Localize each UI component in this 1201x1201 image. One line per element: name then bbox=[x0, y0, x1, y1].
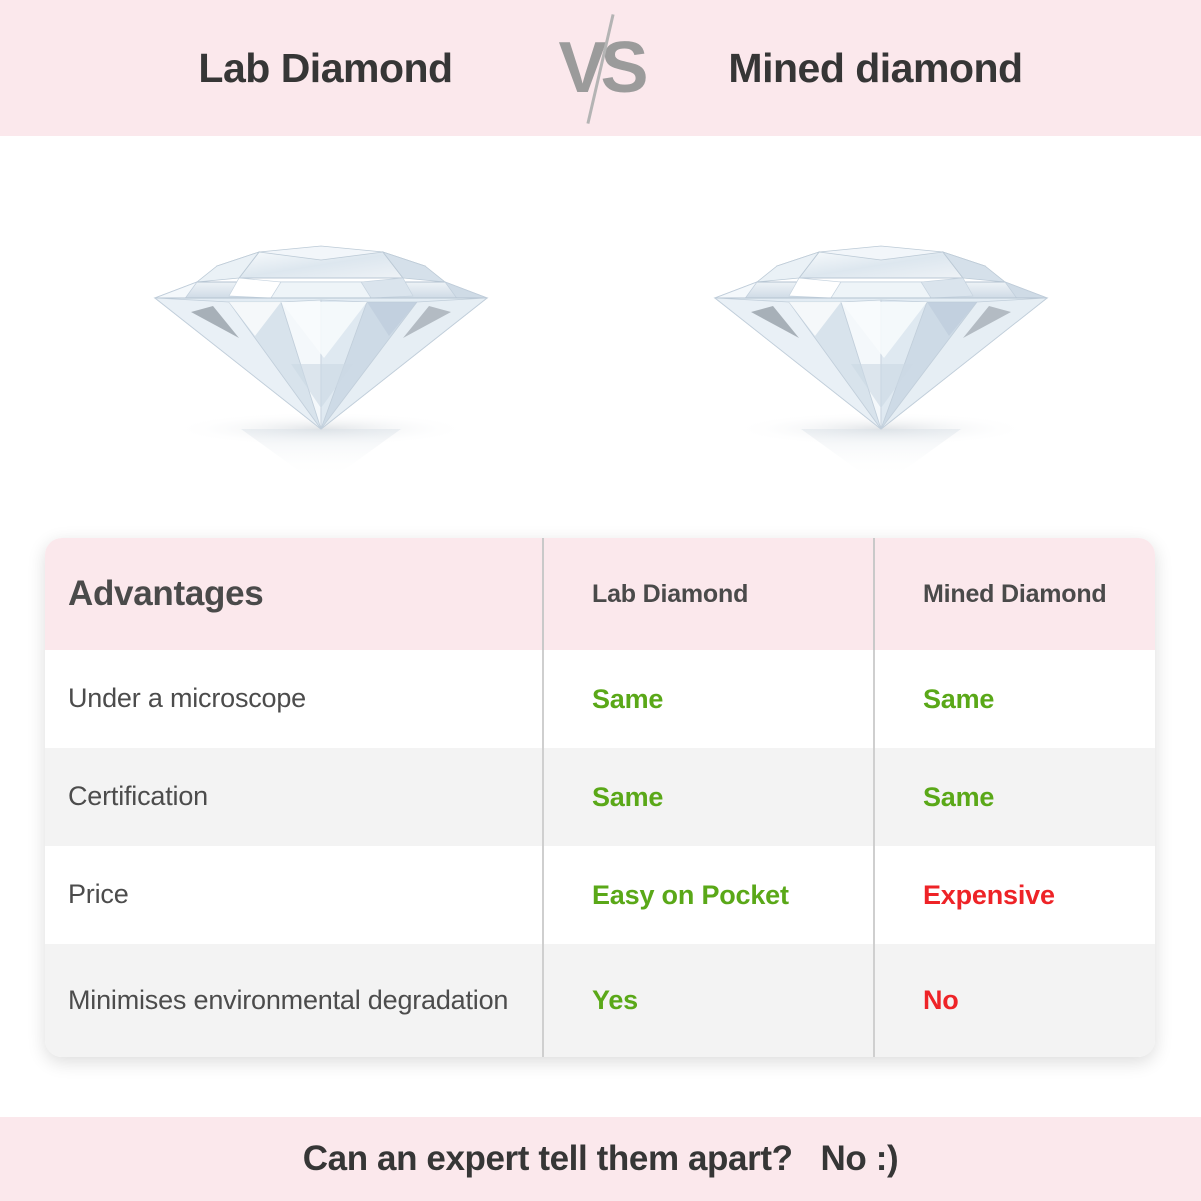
row-mined-value-cell: No bbox=[873, 944, 1155, 1057]
versus-badge: VS bbox=[536, 3, 666, 133]
row-lab-value-cell: Same bbox=[542, 748, 873, 846]
row-feature-cell: Price bbox=[45, 846, 542, 944]
diamond-showcase bbox=[0, 136, 1201, 536]
header-banner: Lab Diamond VS Mined diamond bbox=[0, 0, 1201, 136]
column-header-mined-diamond: Mined Diamond bbox=[873, 538, 1155, 650]
row-feature-cell: Under a microscope bbox=[45, 650, 542, 748]
column-header-lab-diamond: Lab Diamond bbox=[542, 538, 873, 650]
row-mined-value-cell: Same bbox=[873, 650, 1155, 748]
row-mined-value-cell: Expensive bbox=[873, 846, 1155, 944]
status-value: Same bbox=[592, 684, 663, 715]
status-value: Easy on Pocket bbox=[592, 880, 789, 911]
table-row: Minimises environmental degradation Yes … bbox=[45, 944, 1155, 1057]
row-mined-value-cell: Same bbox=[873, 748, 1155, 846]
row-lab-value-cell: Same bbox=[542, 650, 873, 748]
table-header-row: Advantages Lab Diamond Mined Diamond bbox=[45, 538, 1155, 650]
row-lab-value-cell: Yes bbox=[542, 944, 873, 1057]
lab-diamond-image-cell bbox=[41, 171, 601, 501]
mined-diamond-image-cell bbox=[601, 171, 1161, 501]
table-row: Under a microscope Same Same bbox=[45, 650, 1155, 748]
status-value: Same bbox=[923, 782, 994, 813]
status-value: Same bbox=[592, 782, 663, 813]
table-row: Certification Same Same bbox=[45, 748, 1155, 846]
mined-diamond-title: Mined diamond bbox=[666, 45, 1086, 92]
diamond-icon bbox=[121, 186, 521, 486]
row-lab-value-cell: Easy on Pocket bbox=[542, 846, 873, 944]
table-row: Price Easy on Pocket Expensive bbox=[45, 846, 1155, 944]
footer-banner: Can an expert tell them apart? No :) bbox=[0, 1117, 1201, 1201]
column-header-advantages: Advantages bbox=[45, 538, 542, 650]
lab-diamond-title: Lab Diamond bbox=[116, 45, 536, 92]
status-value: Yes bbox=[592, 985, 638, 1016]
comparison-table: Advantages Lab Diamond Mined Diamond Und… bbox=[45, 538, 1155, 1057]
footer-question: Can an expert tell them apart? No :) bbox=[303, 1139, 898, 1179]
diamond-icon bbox=[681, 186, 1081, 486]
row-feature-cell: Certification bbox=[45, 748, 542, 846]
status-value: No bbox=[923, 985, 959, 1016]
status-value: Expensive bbox=[923, 880, 1055, 911]
status-value: Same bbox=[923, 684, 994, 715]
row-feature-cell: Minimises environmental degradation bbox=[45, 944, 542, 1057]
